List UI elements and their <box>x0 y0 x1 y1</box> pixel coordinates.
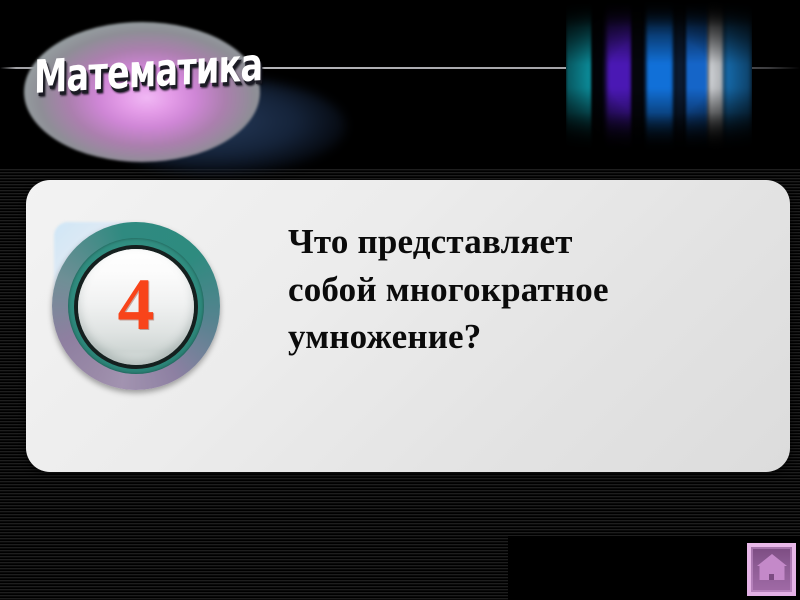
question-line: собой многократное <box>288 266 764 314</box>
slide-canvas: Математика 4 Что представляет собой мног… <box>0 0 800 600</box>
decor-band <box>646 0 674 152</box>
badge-inner-disc: 4 <box>78 249 194 365</box>
question-text: Что представляет собой многократное умно… <box>288 218 764 361</box>
question-number-badge[interactable]: 4 <box>48 216 224 392</box>
subject-title: Математика <box>34 45 219 101</box>
decor-band <box>592 0 606 152</box>
decor-band <box>674 0 686 152</box>
decor-band <box>632 0 646 152</box>
question-line: умножение? <box>288 313 764 361</box>
home-icon-door <box>769 574 774 580</box>
home-icon-body <box>759 566 784 580</box>
home-icon-roof <box>757 554 787 566</box>
decor-band <box>686 0 708 152</box>
question-number-label: 4 <box>118 268 155 342</box>
decor-band <box>606 0 632 152</box>
home-button[interactable] <box>747 543 796 596</box>
decor-band <box>708 0 724 152</box>
decor-band <box>566 0 592 152</box>
question-line: Что представляет <box>288 218 764 266</box>
home-icon <box>751 547 792 592</box>
badge-outer-ring: 4 <box>52 222 220 390</box>
decorative-collage-image <box>566 0 752 152</box>
decor-band <box>724 0 752 152</box>
